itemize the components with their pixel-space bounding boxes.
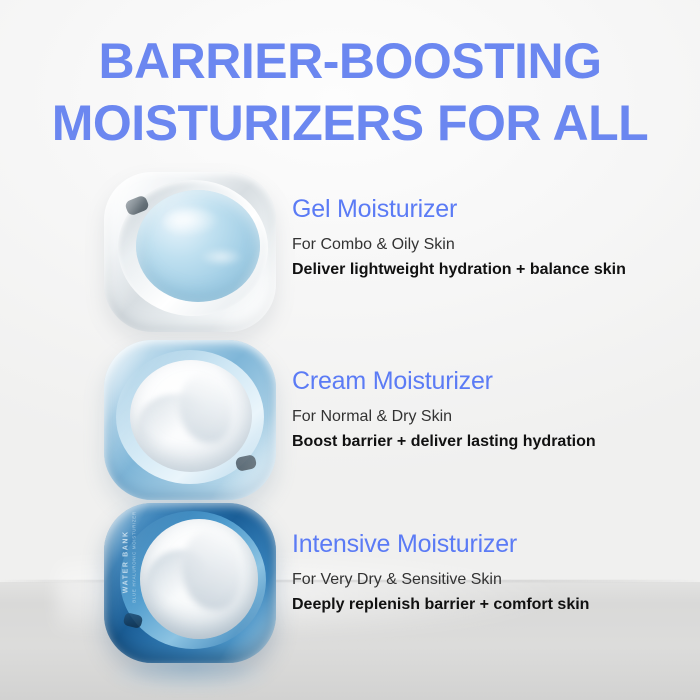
product-skin-type: For Very Dry & Sensitive Skin bbox=[292, 569, 684, 591]
gel-moisturizer-jar bbox=[104, 172, 276, 332]
product-row-cream: Cream Moisturizer For Normal & Dry Skin … bbox=[0, 340, 700, 512]
product-description: Deliver lightweight hydration + balance … bbox=[292, 259, 632, 280]
product-row-gel: Gel Moisturizer For Combo & Oily Skin De… bbox=[0, 172, 700, 342]
product-copy-gel: Gel Moisturizer For Combo & Oily Skin De… bbox=[292, 194, 684, 280]
product-description: Deeply replenish barrier + comfort skin bbox=[292, 594, 632, 615]
jar-brand-mark: WATER BANK BLUE HYALURONIC MOISTURIZER bbox=[122, 521, 136, 603]
jar-contents-cream bbox=[130, 360, 252, 472]
jar-contents-cream bbox=[140, 519, 258, 639]
headline-line-2: MOISTURIZERS FOR ALL bbox=[0, 92, 700, 154]
product-title: Intensive Moisturizer bbox=[292, 529, 684, 559]
gel-highlight-secondary bbox=[200, 248, 242, 266]
jar-brand-name: WATER BANK bbox=[122, 530, 129, 593]
product-description: Boost barrier + deliver lasting hydratio… bbox=[292, 431, 632, 452]
product-skin-type: For Normal & Dry Skin bbox=[292, 406, 684, 428]
product-infographic-poster: BARRIER-BOOSTING MOISTURIZERS FOR ALL Ge… bbox=[0, 0, 700, 700]
product-copy-cream: Cream Moisturizer For Normal & Dry Skin … bbox=[292, 366, 684, 452]
product-copy-intensive: Intensive Moisturizer For Very Dry & Sen… bbox=[292, 529, 684, 615]
product-title: Gel Moisturizer bbox=[292, 194, 684, 224]
cream-moisturizer-jar bbox=[104, 340, 276, 500]
jar-contents-gel bbox=[136, 190, 260, 302]
gel-highlight-primary bbox=[163, 208, 220, 237]
page-title: BARRIER-BOOSTING MOISTURIZERS FOR ALL bbox=[0, 30, 700, 154]
headline-line-1: BARRIER-BOOSTING bbox=[98, 33, 601, 89]
cream-swirl-right bbox=[182, 531, 241, 610]
product-title: Cream Moisturizer bbox=[292, 366, 684, 396]
intensive-moisturizer-jar: WATER BANK BLUE HYALURONIC MOISTURIZER bbox=[104, 503, 276, 663]
product-skin-type: For Combo & Oily Skin bbox=[292, 234, 684, 256]
product-row-intensive: WATER BANK BLUE HYALURONIC MOISTURIZER I… bbox=[0, 503, 700, 668]
jar-brand-subtitle: BLUE HYALURONIC MOISTURIZER bbox=[131, 521, 136, 603]
